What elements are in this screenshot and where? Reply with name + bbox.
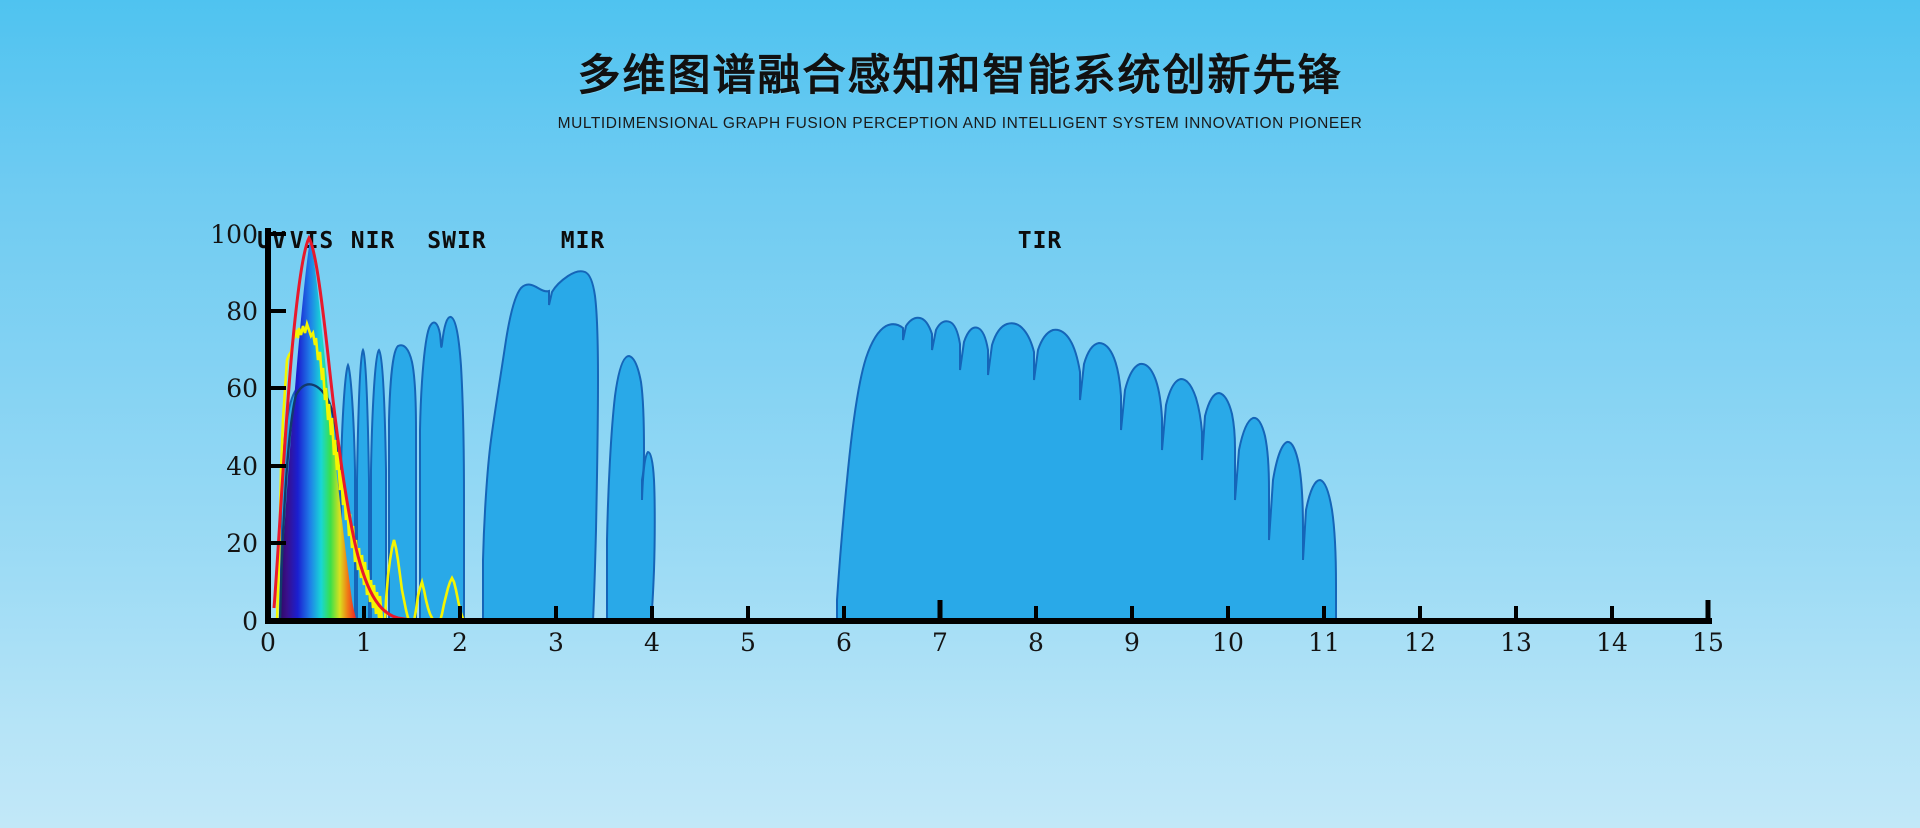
x-tick-label-6: 6 [836,628,852,657]
x-tick-label-3: 3 [548,628,564,657]
transmittance-window-mir-1 [483,271,598,621]
transmittance-window-swir-2 [420,317,464,621]
x-tick-label-14: 14 [1596,628,1628,657]
x-tick-label-15: 15 [1692,628,1724,657]
x-tick-label-8: 8 [1028,628,1044,657]
x-tick-label-10: 10 [1212,628,1244,657]
y-tick-label-20: 20 [226,529,258,558]
poster-root: 多维图谱融合感知和智能系统创新先锋 MULTIDIMENSIONAL GRAPH… [0,0,1920,828]
x-tick-label-5: 5 [740,628,756,657]
transmittance-window-tir [837,318,1336,621]
x-tick-label-0: 0 [260,628,276,657]
y-axis-ticks: 100 80 60 40 20 0 [210,220,286,636]
transmittance-area-group [281,271,1336,621]
x-tick-label-12: 12 [1404,628,1436,657]
y-tick-label-80: 80 [226,297,258,326]
x-tick-label-11: 11 [1308,628,1340,657]
y-tick-label-0: 0 [242,607,258,636]
transmittance-window-mir-2 [607,356,655,621]
x-tick-label-7: 7 [932,628,948,657]
y-tick-label-100: 100 [210,220,258,249]
x-tick-label-9: 9 [1124,628,1140,657]
x-tick-label-1: 1 [356,628,372,657]
transmittance-window-nir-3 [371,350,386,621]
x-tick-label-13: 13 [1500,628,1532,657]
y-tick-label-60: 60 [226,374,258,403]
spectrum-chart: 100 80 60 40 20 0 0 1 2 3 [0,0,1920,828]
transmittance-window-swir-1 [389,345,416,621]
x-tick-label-2: 2 [452,628,468,657]
x-tick-label-4: 4 [644,628,660,657]
y-tick-label-40: 40 [226,452,258,481]
